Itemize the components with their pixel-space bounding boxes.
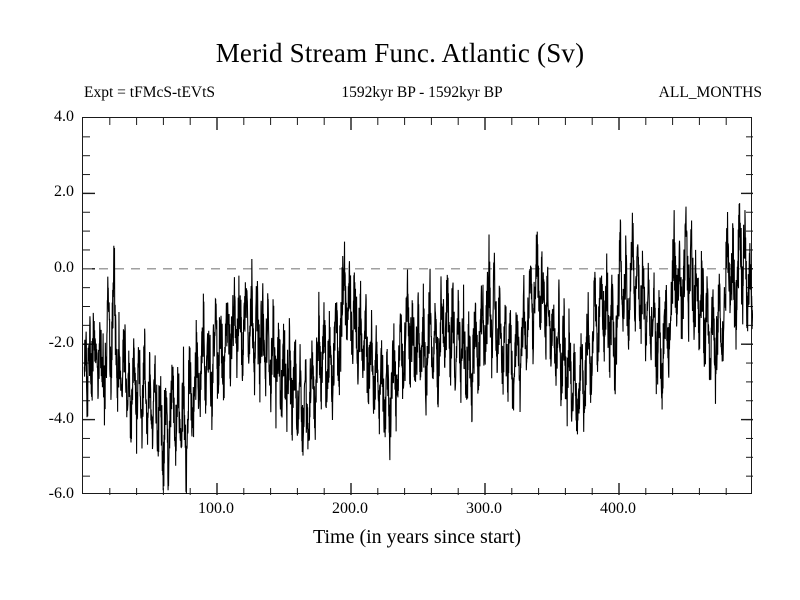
x-axis-tick-labels: 100.0200.0300.0400.0 <box>82 500 752 524</box>
chart-figure: Merid Stream Func. Atlantic (Sv) Expt = … <box>0 0 800 600</box>
x-tick-label: 100.0 <box>171 500 261 518</box>
y-tick-label: -2.0 <box>14 335 74 351</box>
x-tick-label: 200.0 <box>305 500 395 518</box>
x-axis-title: Time (in years since start) <box>82 526 752 549</box>
x-tick-label: 400.0 <box>573 500 663 518</box>
y-tick-label: -6.0 <box>14 486 74 502</box>
x-tick-label: 300.0 <box>439 500 529 518</box>
y-tick-label: 4.0 <box>14 109 74 125</box>
y-axis-tick-labels: 4.02.00.0-2.0-4.0-6.0 <box>8 117 74 494</box>
y-tick-label: 0.0 <box>14 260 74 276</box>
plot-svg <box>83 118 753 495</box>
y-tick-label: -4.0 <box>14 411 74 427</box>
page-title: Merid Stream Func. Atlantic (Sv) <box>0 38 800 69</box>
plot-area <box>82 117 752 494</box>
months-label: ALL_MONTHS <box>659 84 762 102</box>
subtitle-row: Expt = tFMcS-tEVtS 1592kyr BP - 1592kyr … <box>82 84 762 106</box>
data-series-line <box>84 203 753 494</box>
y-tick-label: 2.0 <box>14 184 74 200</box>
